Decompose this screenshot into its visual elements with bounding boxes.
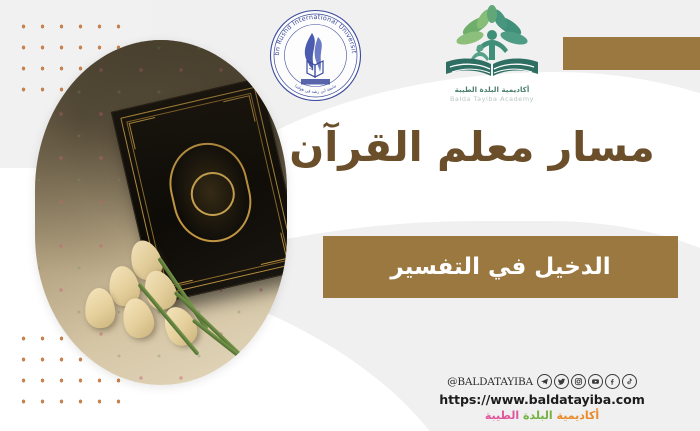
- telegram-icon[interactable]: [537, 374, 552, 389]
- balda-tayiba-academy-logo: أكاديمية البلدة الطيبة Balda Tayiba Acad…: [434, 4, 550, 108]
- social-handle-row: @BALDATAYIBA: [396, 374, 688, 389]
- social-handle: @BALDATAYIBA: [447, 376, 533, 388]
- gold-accent-bar-top-right: [563, 37, 700, 70]
- open-book: [446, 58, 538, 76]
- instagram-icon[interactable]: [571, 374, 586, 389]
- footer: @BALDATAYIBA: [396, 374, 688, 422]
- photo-shadow-overlay: [35, 40, 287, 385]
- footer-word-akademiya: أكاديمية: [557, 409, 600, 422]
- academy-name-arabic: أكاديمية البلدة الطيبة: [434, 85, 550, 94]
- youtube-icon[interactable]: [588, 374, 603, 389]
- main-title: مسار معلم القرآن: [262, 124, 682, 171]
- ibn-rushd-international-university-logo: Ibn Rushd International University جامعة…: [267, 7, 364, 104]
- footer-word-albalda: البلدة: [523, 409, 553, 422]
- tiktok-icon[interactable]: [622, 374, 637, 389]
- poster-canvas: Ibn Rushd International University جامعة…: [0, 0, 700, 431]
- quran-photo: [35, 40, 287, 385]
- academy-name-english: Balda Tayiba Academy: [434, 95, 550, 103]
- facebook-icon[interactable]: [605, 374, 620, 389]
- twitter-icon[interactable]: [554, 374, 569, 389]
- subtitle-banner: الدخيل في التفسير: [323, 236, 678, 298]
- academy-name-footer-arabic: أكاديمية البلدة الطيبة: [396, 409, 688, 422]
- subtitle-text: الدخيل في التفسير: [390, 254, 610, 280]
- footer-word-altayiba: الطيبة: [485, 409, 519, 422]
- website-url[interactable]: https://www.baldatayiba.com: [396, 392, 688, 407]
- person-figure-small: [471, 45, 489, 61]
